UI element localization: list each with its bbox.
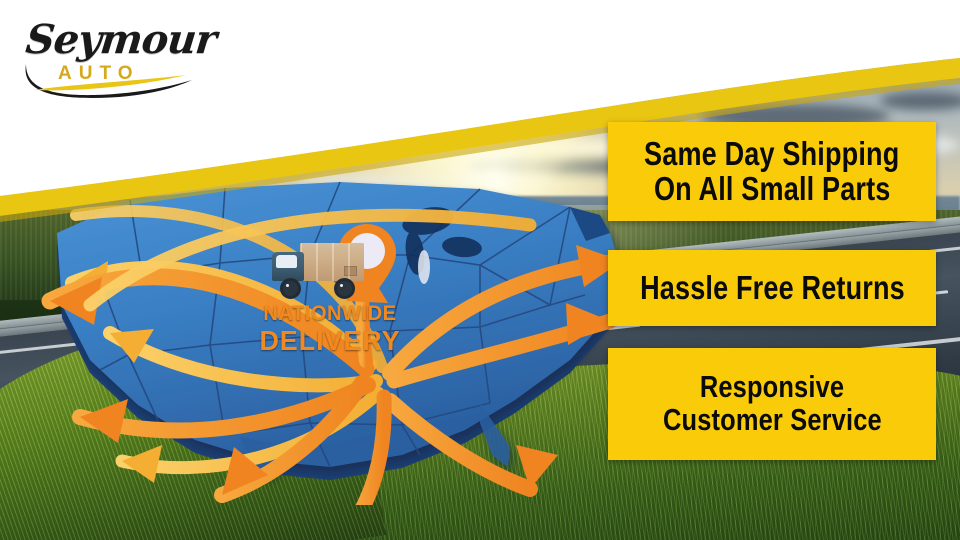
banner-line-1: Same Day Shipping [644, 137, 899, 172]
feature-banner-responsive-customer-service[interactable]: Responsive Customer Service [608, 348, 936, 460]
cloud [760, 70, 880, 84]
banner-line-2: Customer Service [663, 404, 882, 437]
banner-line-1: Hassle Free Returns [640, 271, 905, 306]
banner-line-2: On All Small Parts [654, 172, 891, 207]
promo-banner-image: Seymour AUTO NATIONWIDE DELIVERY Same Da… [0, 0, 960, 540]
callout-line-2: DELIVERY [253, 327, 407, 355]
cloud [880, 92, 960, 110]
banner-line-1: Responsive [700, 371, 844, 404]
feature-banner-same-day-shipping[interactable]: Same Day Shipping On All Small Parts [608, 122, 936, 221]
feature-banner-hassle-free-returns[interactable]: Hassle Free Returns [608, 250, 936, 326]
truck-wheel [334, 278, 355, 299]
logo-auto-text: AUTO [58, 63, 139, 85]
nationwide-delivery-callout: NATIONWIDE DELIVERY [250, 303, 410, 355]
truck-cab [272, 252, 304, 281]
brand-logo[interactable]: Seymour AUTO [18, 10, 208, 96]
callout-line-1: NATIONWIDE [253, 303, 407, 324]
truck-wheel [280, 278, 301, 299]
truck-cargo-box [300, 243, 364, 281]
delivery-truck-icon [272, 243, 364, 299]
